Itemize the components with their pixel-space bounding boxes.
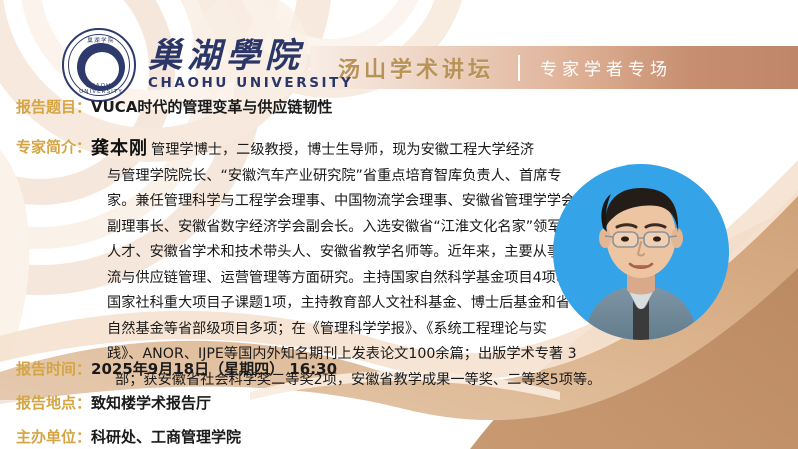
- banner-divider: [518, 55, 520, 81]
- place-value: 致知楼学术报告厅: [91, 392, 211, 413]
- speaker-portrait: [553, 164, 729, 340]
- university-name-cn: 巢湖學院: [148, 39, 353, 75]
- topic-row: 报告题目： VUCA时代的管理变革与供应链韧性: [16, 96, 332, 117]
- time-label: 报告时间：: [16, 358, 91, 379]
- seal-monogram: 巢: [88, 57, 107, 76]
- bio-line: 人才、安徽省学术和技术带头人、安徽省教学名师等。近年来，主要从事物: [91, 240, 599, 266]
- place-label: 报告地点：: [16, 392, 91, 413]
- time-value: 2025年9月18日（星期四） 16:30: [91, 358, 337, 379]
- topic-value: VUCA时代的管理变革与供应链韧性: [91, 96, 332, 117]
- bio-line-text: 管理学博士，二级教授，博士生导师，现为安徽工程大学经济: [151, 142, 534, 158]
- time-row: 报告时间： 2025年9月18日（星期四） 16:30: [16, 358, 337, 379]
- university-logo: 巢湖学院 巢 CHAOHU UNIVERSITY 巢湖學院 CHAOHU UNI…: [62, 28, 353, 102]
- seminar-poster: 巢湖学院 巢 CHAOHU UNIVERSITY 巢湖學院 CHAOHU UNI…: [0, 0, 798, 449]
- host-row: 主办单位： 科研处、工商管理学院: [16, 426, 241, 447]
- bio-row: 专家简介： 龚本刚管理学博士，二级教授，博士生导师，现为安徽工程大学经济 与管理…: [16, 136, 599, 393]
- bio-line: 与管理学院院长、“安徽汽车产业研究院”省重点培育智库负责人、首席专: [91, 164, 599, 190]
- forum-title: 汤山学术讲坛: [338, 52, 494, 84]
- bio-body: 龚本刚管理学博士，二级教授，博士生导师，现为安徽工程大学经济 与管理学院院长、“…: [91, 136, 599, 393]
- forum-subtitle: 专家学者专场: [540, 55, 672, 80]
- bio-label: 专家简介：: [16, 136, 91, 157]
- university-name-en: CHAOHU UNIVERSITY: [148, 75, 353, 91]
- forum-banner: 汤山学术讲坛 专家学者专场: [310, 46, 798, 89]
- host-value: 科研处、工商管理学院: [91, 426, 241, 447]
- university-seal-icon: 巢湖学院 巢 CHAOHU UNIVERSITY: [62, 28, 136, 102]
- bio-line: 龚本刚管理学博士，二级教授，博士生导师，现为安徽工程大学经济: [91, 136, 599, 164]
- seal-bottom-text: CHAOHU UNIVERSITY: [64, 83, 138, 95]
- bio-line: 自然基金等省部级项目多项；在《管理科学学报》、《系统工程理论与实: [91, 317, 599, 343]
- bio-line: 副理事长、安徽省数字经济学会副会长。入选安徽省“江淮文化名家”领军: [91, 215, 599, 241]
- topic-label: 报告题目：: [16, 96, 91, 117]
- speaker-name: 龚本刚: [91, 138, 148, 159]
- bio-line: 流与供应链管理、运营管理等方面研究。主持国家自然科学基金项目4项、: [91, 266, 599, 292]
- bio-line: 家。兼任管理科学与工程学会理事、中国物流学会理事、安徽省管理学学会: [91, 189, 599, 215]
- bio-line: 国家社科重大项目子课题1项，主持教育部人文社科基金、博士后基金和省: [91, 291, 599, 317]
- place-row: 报告地点： 致知楼学术报告厅: [16, 392, 211, 413]
- host-label: 主办单位：: [16, 426, 91, 447]
